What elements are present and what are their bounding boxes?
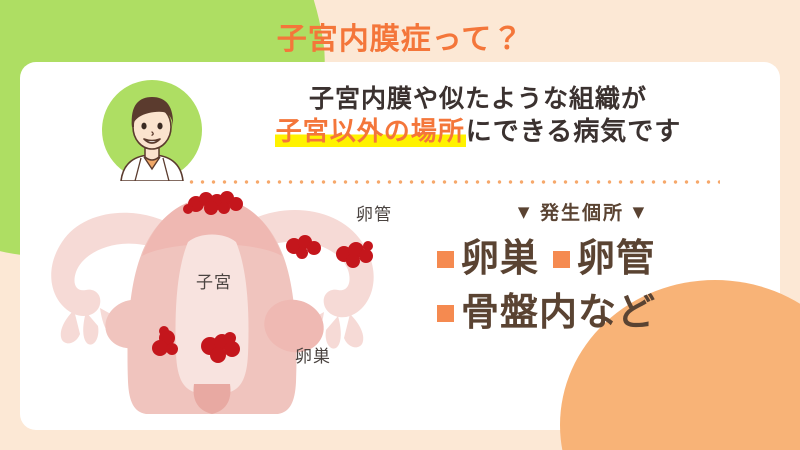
fimbria-left-2 bbox=[83, 312, 98, 345]
occurrence-sites-heading: ▼ 発生個所 ▼ bbox=[437, 198, 727, 225]
bullet-square-icon bbox=[553, 251, 570, 268]
triangle-right-icon: ▼ bbox=[633, 203, 647, 221]
location-row-1: 卵巣 卵管 bbox=[437, 239, 727, 277]
headline-line-1: 子宮内膜や似たような組織が bbox=[218, 84, 738, 115]
page-title: 子宮内膜症って？ bbox=[0, 14, 800, 58]
location-item-fallopian-tube: 卵管 bbox=[577, 239, 655, 277]
fimbria-right-1 bbox=[344, 314, 363, 347]
infographic-canvas: 子宮内膜症って？ bbox=[0, 0, 800, 450]
triangle-left-icon: ▼ bbox=[518, 203, 532, 221]
dotted-divider bbox=[186, 180, 720, 184]
avatar bbox=[101, 79, 203, 181]
headline-line-2: 子宮以外の場所にできる病気です bbox=[218, 117, 738, 149]
diagram-label-uterus: 子宮 bbox=[196, 268, 232, 293]
headline-line-2-tail: にできる病気です bbox=[466, 117, 681, 147]
occurrence-sites-heading-label: 発生個所 bbox=[540, 202, 624, 224]
diagram-label-fallopian-tube: 卵管 bbox=[356, 200, 392, 225]
location-row-2: 骨盤内など bbox=[437, 293, 727, 331]
location-item-pelvic: 骨盤内など bbox=[461, 293, 656, 331]
headline-block: 子宮内膜や似たような組織が 子宮以外の場所にできる病気です bbox=[218, 84, 738, 148]
location-item-ovary: 卵巣 bbox=[461, 239, 539, 277]
headline-highlight: 子宮以外の場所 bbox=[275, 117, 466, 147]
diagram-label-ovary: 卵巣 bbox=[295, 342, 331, 367]
bullet-square-icon bbox=[437, 305, 454, 322]
bullet-square-icon bbox=[437, 251, 454, 268]
endometrial-cavity bbox=[176, 235, 249, 393]
occurrence-sites-panel: ▼ 発生個所 ▼ 卵巣 卵管 骨盤内など bbox=[437, 198, 727, 331]
reproductive-organs bbox=[51, 191, 373, 414]
